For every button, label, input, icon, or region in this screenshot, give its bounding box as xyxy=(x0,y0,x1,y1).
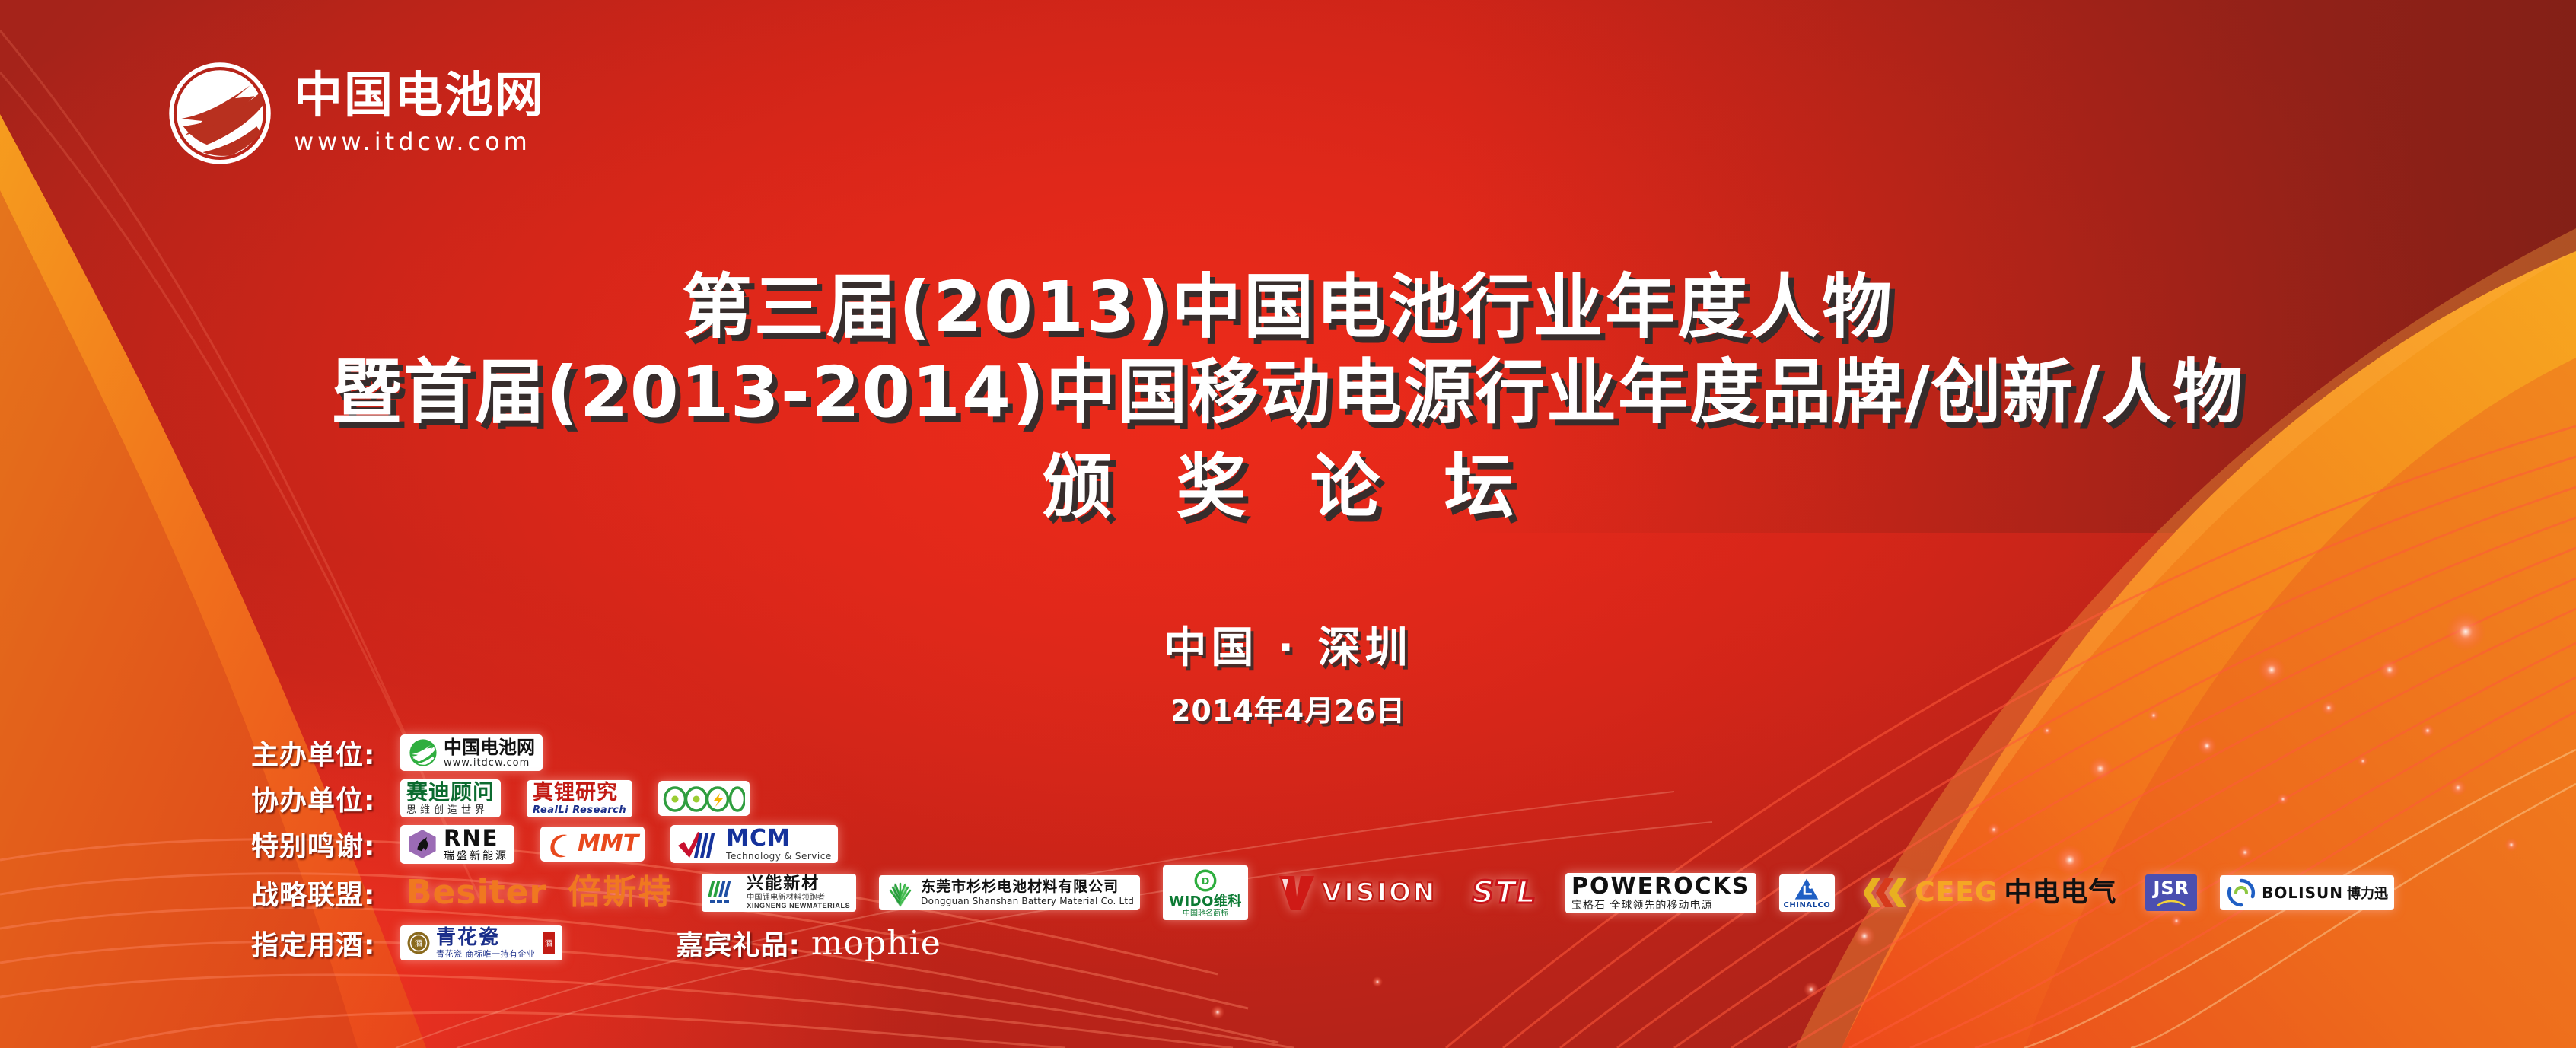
logo-text-sub: CHINALCO xyxy=(1784,902,1831,909)
globe-swoosh-icon xyxy=(166,59,274,167)
logo-stl[interactable]: STL xyxy=(1466,875,1543,910)
title-line-3: 颁 奖 论 坛 xyxy=(0,445,2576,529)
logo-text-main: CEEG xyxy=(1915,879,1998,906)
chinalco-triangle-icon xyxy=(1794,877,1820,901)
vision-v-icon xyxy=(1277,874,1317,912)
logo-text-sub: 宝格石 全球领先的移动电源 xyxy=(1571,900,1750,911)
logo-text-main: MMT xyxy=(578,833,638,855)
logo-bolisun[interactable]: BOLISUN 博力迅 xyxy=(2220,875,2394,910)
logo-text-sub: www.itdcw.com xyxy=(444,758,535,768)
logo-text-sub: RealLi Research xyxy=(533,805,626,815)
mcm-check-icon xyxy=(677,829,721,859)
logo-text-main: JSR xyxy=(2153,879,2189,897)
logo-shanshan[interactable]: 东莞市杉杉电池材料有限公司 Dongguan Shanshan Battery … xyxy=(879,875,1140,910)
logo-rne[interactable]: RNE 瑞盛新能源 xyxy=(400,825,514,864)
logo-xingneng[interactable]: 兴能新材 中国锂电新材料领跑者 XINGNENG NEWMATERIALS xyxy=(702,874,856,912)
leaf-fan-icon xyxy=(885,878,915,908)
svg-text:酒: 酒 xyxy=(415,939,422,948)
sponsor-logo-group: 酒 青花瓷 青花瓷 商标唯一持有企业 酒 xyxy=(400,925,562,960)
logo-text-main: STL xyxy=(1472,878,1536,908)
logo-mmt[interactable]: MMT xyxy=(540,827,645,862)
sponsor-row-organizer: 主办单位: 中国电池网 www.itdcw.com xyxy=(251,731,2542,775)
sponsor-row-drink: 指定用酒: 酒 青花瓷 青花瓷 商标唯一持有企业 酒 xyxy=(251,919,2542,967)
logo-text-main: 中国电池网 xyxy=(444,738,535,757)
logo-text-main: BOLISUN xyxy=(2262,885,2343,900)
logo-text-main: POWEROCKS xyxy=(1571,875,1750,898)
sponsor-row-coorganizer: 协办单位: 赛迪顾问 思维创造世界 真锂研究 RealLi Research xyxy=(251,776,2542,820)
logo-powerocks[interactable]: POWEROCKS 宝格石 全球领先的移动电源 xyxy=(1565,873,1756,913)
logo-text-cn: 博力迅 xyxy=(2347,887,2388,900)
event-date: 2014年4月26日 xyxy=(0,687,2576,729)
logo-wido[interactable]: D WIDO维科 中国驰名商标 xyxy=(1163,865,1248,920)
logo-text-main: 赛迪顾问 xyxy=(406,782,495,803)
logo-itdcw-green[interactable]: 中国电池网 www.itdcw.com xyxy=(400,734,543,771)
mmt-arc-icon xyxy=(546,829,572,859)
logo-text-main: 青花瓷 xyxy=(436,928,536,948)
guest-gift-label: 嘉宾礼品: xyxy=(677,923,801,963)
logo-besiter-cn[interactable]: 倍斯特 xyxy=(562,874,679,912)
title-line-1: 第三届(2013)中国电池行业年度人物 xyxy=(0,268,2576,346)
ceeg-chevron-icon xyxy=(1864,876,1909,909)
logo-chinalco[interactable]: CHINALCO xyxy=(1779,874,1836,912)
logo-text-main: RNE xyxy=(444,827,508,849)
sponsor-row-thanks: 特别鸣谢: RNE 瑞盛新能源 xyxy=(251,822,2542,866)
logo-ceeg[interactable]: CEEG 中电电气 xyxy=(1858,874,2122,912)
event-info: 中国 · 深圳 2014年4月26日 xyxy=(0,613,2576,729)
logo-text-sub: 青花瓷 商标唯一持有企业 xyxy=(436,950,536,958)
sponsor-section: 主办单位: 中国电池网 www.itdcw.com xyxy=(251,731,2542,968)
logo-text-main: 真锂研究 xyxy=(533,782,626,803)
logo-text-main: MCM xyxy=(726,827,832,850)
wido-circle-icon: D xyxy=(1192,868,1218,894)
sponsor-row-label: 主办单位: xyxy=(251,733,400,772)
sponsor-row-label: 特别鸣谢: xyxy=(251,824,400,864)
xingneng-bars-icon xyxy=(708,879,741,906)
sponsor-row-label: 战略联盟: xyxy=(251,873,400,913)
logo-text-main: 兴能新材 xyxy=(747,876,850,893)
logo-ccid-consulting[interactable]: 赛迪顾问 思维创造世界 xyxy=(400,779,501,817)
logo-besiter[interactable]: Besiter xyxy=(400,874,552,912)
hexagon-horse-icon xyxy=(406,828,438,860)
logo-vision[interactable]: VISION xyxy=(1271,871,1443,914)
logo-abec[interactable] xyxy=(658,781,750,816)
bolisun-circle-icon xyxy=(2226,878,2256,908)
logo-text-main: Besiter xyxy=(406,876,546,909)
logo-text-sub: 瑞盛新能源 xyxy=(444,851,508,862)
logo-text-sub: 中国驰名商标 xyxy=(1183,910,1228,918)
sponsor-row-label: 协办单位: xyxy=(251,779,400,818)
event-banner: 中国电池网 www.itdcw.com 第三届(2013)中国电池行业年度人物 … xyxy=(0,0,2576,1048)
logo-realli-research[interactable]: 真锂研究 RealLi Research xyxy=(527,780,632,817)
site-logo[interactable]: 中国电池网 www.itdcw.com xyxy=(166,59,545,167)
sponsor-logo-group: RNE 瑞盛新能源 MMT xyxy=(400,825,2542,864)
logo-mcm[interactable]: MCM Technology & Service xyxy=(670,825,838,863)
logo-text-main: WIDO维科 xyxy=(1169,895,1242,909)
svg-text:D: D xyxy=(1202,876,1210,887)
sponsor-row-alliance: 战略联盟: Besiter 倍斯特 xyxy=(251,868,2542,918)
title-line-2: 暨首届(2013-2014)中国移动电源行业年度品牌/创新/人物 xyxy=(0,351,2576,435)
sponsor-row-label: 指定用酒: xyxy=(251,923,400,963)
svg-text:酒: 酒 xyxy=(545,939,552,948)
logo-text-sub: 中国锂电新材料领跑者 xyxy=(747,894,850,902)
logo-text-sub: Technology & Service xyxy=(726,852,832,861)
logo-name-cn: 中国电池网 xyxy=(294,71,545,122)
logo-qinghuaci[interactable]: 酒 青花瓷 青花瓷 商标唯一持有企业 酒 xyxy=(400,925,562,960)
event-location: 中国 · 深圳 xyxy=(0,613,2576,675)
logo-text-cn: 中电电气 xyxy=(2004,879,2116,906)
logo-text-sub: Dongguan Shanshan Battery Material Co. L… xyxy=(921,897,1134,906)
abec-letters-icon xyxy=(663,783,745,814)
red-seal-icon: 酒 xyxy=(541,931,556,955)
seal-stamp-icon: 酒 xyxy=(406,931,431,955)
logo-mophie[interactable]: mophie xyxy=(811,924,941,963)
logo-jsr[interactable]: JSR xyxy=(2145,874,2197,911)
page-title: 第三届(2013)中国电池行业年度人物 暨首届(2013-2014)中国移动电源… xyxy=(0,268,2576,530)
sponsor-logo-group: 赛迪顾问 思维创造世界 真锂研究 RealLi Research xyxy=(400,779,2542,817)
sponsor-logo-group: Besiter 倍斯特 xyxy=(400,865,2542,920)
logo-url: www.itdcw.com xyxy=(294,127,545,156)
logo-text-sub: 思维创造世界 xyxy=(406,805,495,815)
logo-text-sub2: XINGNENG NEWMATERIALS xyxy=(747,903,850,909)
logo-text-main: VISION xyxy=(1322,880,1437,906)
logo-text-main: 倍斯特 xyxy=(568,876,673,909)
guest-gift-group: 嘉宾礼品: mophie xyxy=(677,923,941,963)
jsr-arc-icon xyxy=(2157,899,2186,906)
globe-swoosh-icon xyxy=(408,737,438,768)
sponsor-logo-group: 中国电池网 www.itdcw.com xyxy=(400,734,2542,771)
logo-text-main: 东莞市杉杉电池材料有限公司 xyxy=(921,880,1134,894)
